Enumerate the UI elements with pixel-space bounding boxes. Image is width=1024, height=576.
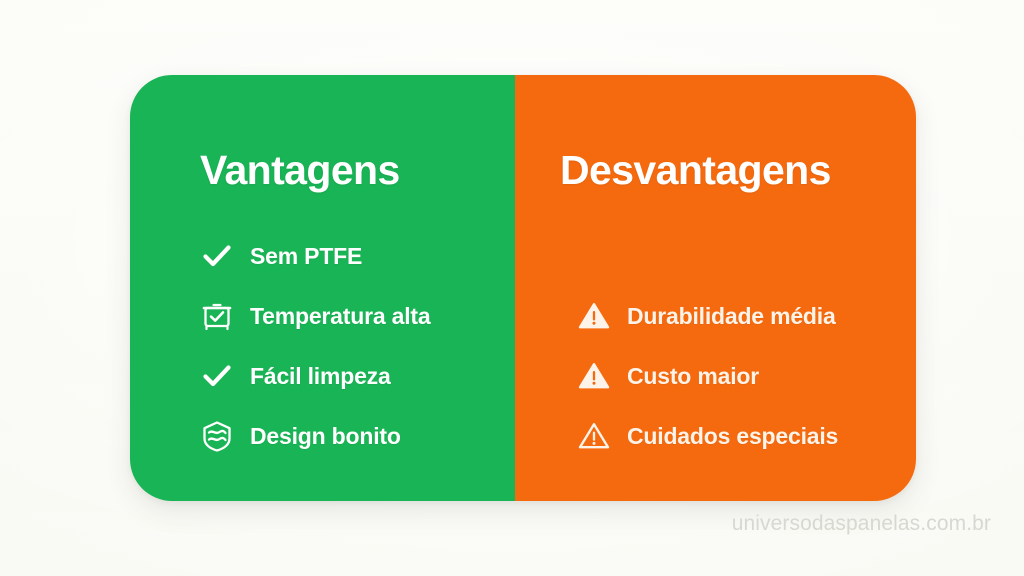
list-item: Design bonito <box>200 406 515 466</box>
list-item: Temperatura alta <box>200 286 515 346</box>
warning-filled-icon <box>577 299 611 333</box>
pros-item-list: Sem PTFE Temperatura alta <box>200 226 515 466</box>
warning-outline-icon <box>577 419 611 453</box>
list-item-label: Design bonito <box>250 425 401 448</box>
pot-check-icon <box>200 299 234 333</box>
cons-panel: Desvantagens Durabilidade média <box>515 75 916 501</box>
list-item-label: Sem PTFE <box>250 245 362 268</box>
infographic-canvas: Vantagens Sem PTFE <box>0 0 1024 576</box>
cons-panel-title: Desvantagens <box>560 150 831 191</box>
list-item-label: Temperatura alta <box>250 305 430 328</box>
design-badge-icon <box>200 419 234 453</box>
site-watermark: universodaspanelas.com.br <box>732 513 991 534</box>
list-item: Durabilidade média <box>577 286 916 346</box>
list-item: Sem PTFE <box>200 226 515 286</box>
pros-panel-title: Vantagens <box>200 150 400 191</box>
list-item: Fácil limpeza <box>200 346 515 406</box>
check-icon <box>200 359 234 393</box>
list-item-label: Durabilidade média <box>627 305 836 328</box>
check-icon <box>200 239 234 273</box>
list-item-label: Custo maior <box>627 365 759 388</box>
list-item: Custo maior <box>577 346 916 406</box>
cons-item-list: Durabilidade média Custo maior <box>577 286 916 466</box>
list-item: Cuidados especiais <box>577 406 916 466</box>
warning-filled-icon <box>577 359 611 393</box>
comparison-card: Vantagens Sem PTFE <box>130 75 916 501</box>
list-item-label: Fácil limpeza <box>250 365 391 388</box>
list-item-label: Cuidados especiais <box>627 425 838 448</box>
pros-panel: Vantagens Sem PTFE <box>130 75 515 501</box>
